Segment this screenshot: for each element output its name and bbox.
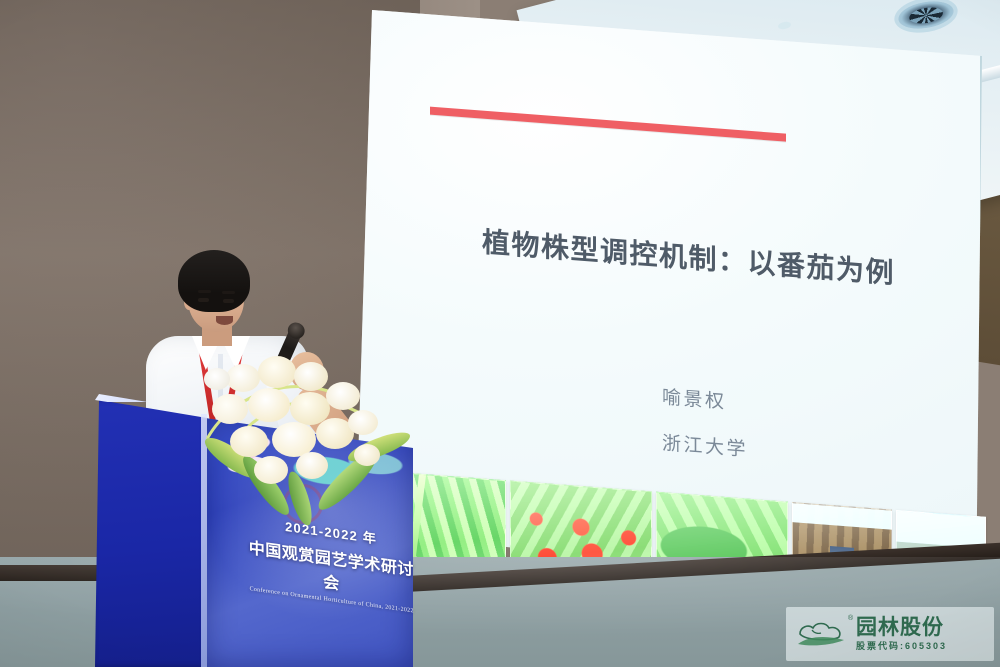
watermark-stock-code: 股票代码:605303 — [856, 642, 947, 651]
projection-screen: 植物株型调控机制：以番茄为例 喻景权 浙江大学 — [352, 0, 982, 600]
presentation-photo-scene: 植物株型调控机制：以番茄为例 喻景权 浙江大学 — [0, 0, 1000, 667]
flower-arrangement — [196, 352, 416, 572]
watermark-brand: 园林股份 — [856, 617, 947, 638]
podium-side-panel — [95, 400, 207, 667]
speaker-hair — [178, 250, 250, 312]
registered-mark-icon: ® — [848, 615, 853, 622]
podium-top-edge — [95, 394, 209, 402]
speaker-mouth — [216, 316, 233, 325]
channel-watermark: 园林股份 股票代码:605303 ® — [786, 607, 994, 661]
cloud-tree-logo-icon — [794, 616, 850, 652]
